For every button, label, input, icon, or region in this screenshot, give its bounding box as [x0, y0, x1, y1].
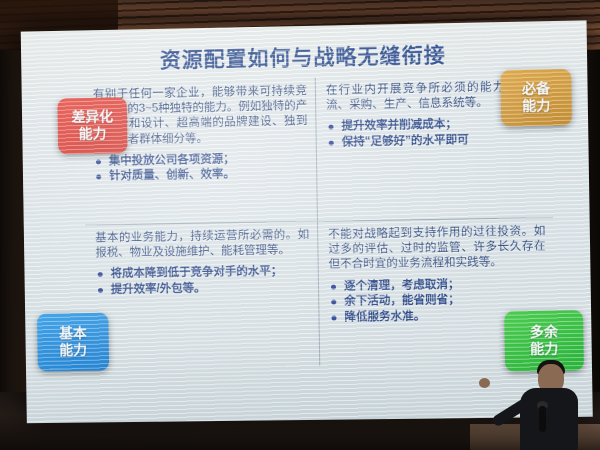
badge-basic-capability: 基本 能力 — [37, 313, 109, 372]
badge-line-2: 能力 — [59, 342, 87, 359]
bullet-item: 保持“足够好”的水平即可 — [327, 132, 544, 151]
badge-line-2: 能力 — [79, 126, 107, 143]
quadrant-bottom-left: 基本的业务能力，持续运营所必需的。如报税、物业及设施维护、能耗管理等。 将成本降… — [85, 222, 320, 369]
presenter-body — [520, 388, 578, 450]
bullet-item: 提升效率/外包等。 — [96, 280, 310, 299]
quadrant-bullet-list: 集中投放公司各项资源； 针对质量、创新、效率。 — [94, 151, 308, 186]
badge-differentiating-capability: 差异化 能力 — [57, 97, 127, 154]
badge-line-2: 能力 — [522, 97, 551, 115]
screenshot-stage: 资源配置如何与战略无缝衔接 有别于任何一家企业，能够带来可持续竞争优势的3~5种… — [0, 0, 600, 450]
badge-line-1: 多余 — [530, 324, 559, 341]
microphone-handle — [539, 406, 546, 432]
bullet-item: 针对质量、创新、效率。 — [94, 166, 308, 185]
presenter-hand — [479, 378, 490, 388]
slide-title: 资源配置如何与战略无缝衔接 — [21, 36, 587, 77]
badge-line-1: 必备 — [522, 80, 551, 98]
badge-essential-capability: 必备 能力 — [500, 69, 572, 127]
quadrant-paragraph: 基本的业务能力，持续运营所必需的。如报税、物业及设施维护、能耗管理等。 — [95, 228, 309, 262]
quadrant-bullet-list: 将成本降到低于竞争对手的水平； 提升效率/外包等。 — [96, 264, 310, 298]
quadrant-paragraph: 不能对战略起到支持作用的过往投资。如过多的评估、过时的监管、许多长久存在但不合时… — [328, 224, 546, 273]
presenter-person — [486, 346, 582, 450]
slide-content-grid: 有别于任何一家企业，能够带来可持续竞争优势的3~5种独特的能力。例如独特的产品创… — [83, 73, 556, 368]
badge-line-1: 差异化 — [71, 108, 113, 126]
badge-line-1: 基本 — [59, 325, 87, 342]
